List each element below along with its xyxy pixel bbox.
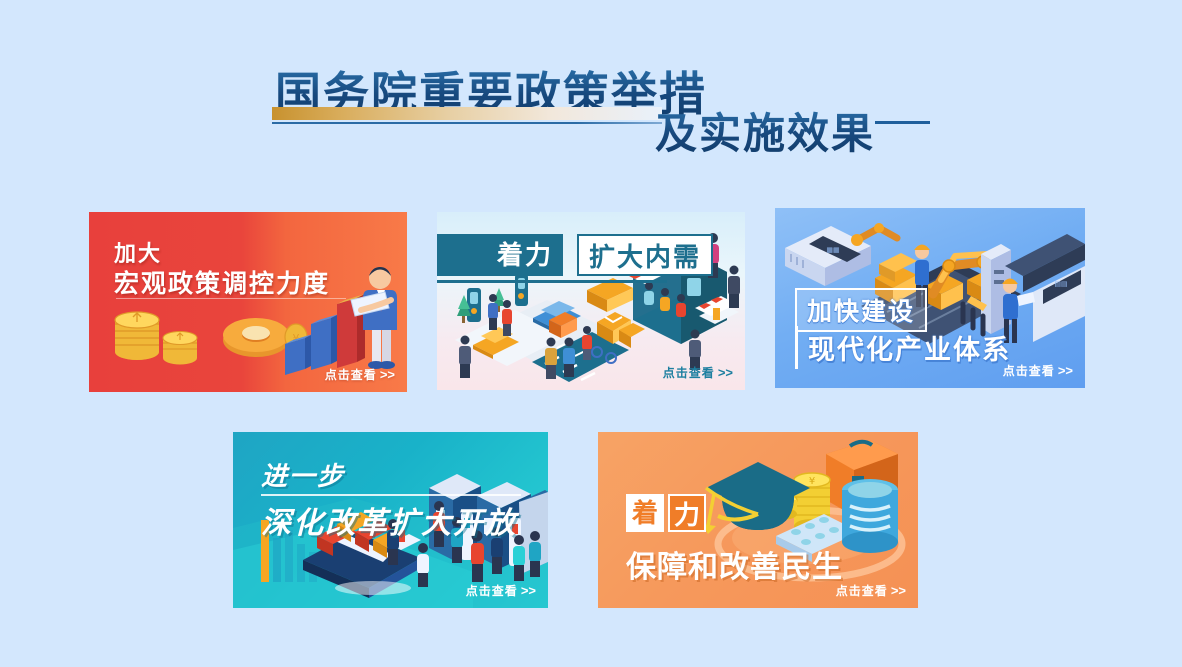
card-title-line-2: 深化改革扩大开放 <box>261 498 517 542</box>
card-improve-peoples-livelihood[interactable]: ¥ <box>598 432 918 608</box>
page-header: 国务院重要政策举措 及实施效果 <box>0 0 1182 190</box>
card-title-box-primary: 着力 <box>437 234 563 276</box>
card-increase-macro-policy[interactable]: ¥ <box>89 212 407 392</box>
chevron-right-icon: >> <box>380 367 395 382</box>
card-expand-domestic-demand[interactable]: 着力 扩大内需 点击查看>> <box>437 212 745 390</box>
card-cta-label: 点击查看 <box>466 584 518 598</box>
card-modern-industrial-system[interactable]: ▦▦ <box>775 208 1085 388</box>
card-title-box-secondary: 现代化产业体系 <box>795 326 1019 369</box>
card-cta[interactable]: 点击查看>> <box>325 366 395 383</box>
title-gold-underbar <box>272 107 662 120</box>
page-title-line-2: 及实施效果 <box>655 100 875 161</box>
card-cta-label: 点击查看 <box>836 584 888 598</box>
chevron-right-icon: >> <box>718 365 733 380</box>
chevron-right-icon: >> <box>1058 363 1073 378</box>
svg-text:¥: ¥ <box>809 476 815 487</box>
title-blue-underline <box>272 122 662 124</box>
gold-ring <box>223 318 289 357</box>
card-cta[interactable]: 点击查看>> <box>663 364 733 381</box>
card-title-line-2: 保障和改善民生 <box>626 542 843 586</box>
card-cta[interactable]: 点击查看>> <box>1003 362 1073 379</box>
chevron-right-icon: >> <box>891 583 906 598</box>
svg-text:▦▦: ▦▦ <box>826 246 839 254</box>
medicine-jar <box>842 479 898 553</box>
title-trailing-dash <box>875 121 930 124</box>
card-cta[interactable]: 点击查看>> <box>466 582 536 599</box>
card-title-rule <box>116 298 346 299</box>
card-cta-label: 点击查看 <box>325 368 377 382</box>
coin-stack-small <box>163 332 197 365</box>
card-title-rule <box>261 494 521 496</box>
card-title-line-1: 进一步 <box>261 456 345 493</box>
card-title-box-secondary: 扩大内需 <box>577 234 713 276</box>
card-cta-label: 点击查看 <box>663 366 715 380</box>
card-cta-label: 点击查看 <box>1003 364 1055 378</box>
card-deepen-reform-open-up[interactable]: 进一步 深化改革扩大开放 点击查看>> <box>233 432 548 608</box>
card-cta[interactable]: 点击查看>> <box>836 582 906 599</box>
coin-stack-large <box>115 312 159 360</box>
svg-text:▤▤: ▤▤ <box>1054 280 1067 288</box>
card-title-box-primary: 着 <box>626 494 664 532</box>
chevron-right-icon: >> <box>521 583 536 598</box>
delivery-truck <box>587 278 633 312</box>
card-title-line-2: 宏观政策调控力度 <box>114 264 330 300</box>
card-title-box-secondary: 力 <box>668 494 706 532</box>
card-title-rule <box>437 280 667 283</box>
